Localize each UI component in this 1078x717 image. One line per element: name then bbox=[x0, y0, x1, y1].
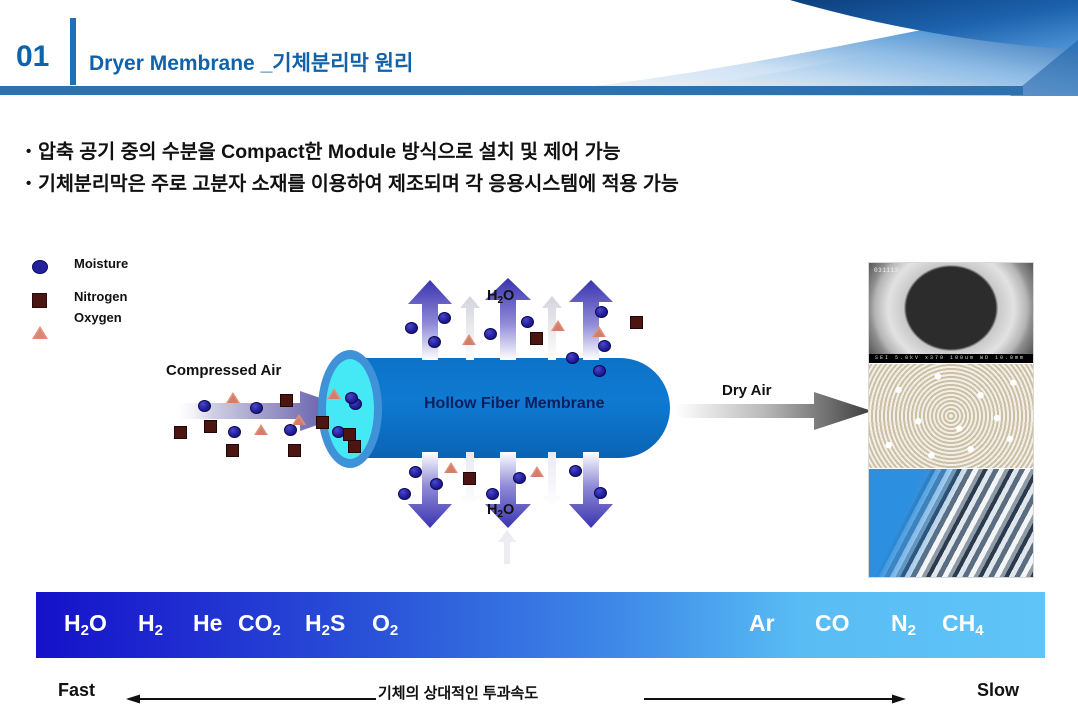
particle-moisture bbox=[228, 426, 241, 438]
particle-nitrogen bbox=[343, 428, 356, 441]
axis-center-label: 기체의 상대적인 투과속도 bbox=[378, 682, 538, 703]
h2o-label-top: H2O bbox=[487, 288, 514, 306]
membrane-diagram: Compressed Air Hollow Fiber Membrane bbox=[0, 240, 880, 570]
particle-moisture bbox=[594, 487, 607, 499]
title-accent-bar bbox=[70, 18, 76, 85]
bullet-text: 기체분리막은 주로 고분자 소재를 이용하여 제조되며 각 응용시스템에 적용 … bbox=[38, 173, 679, 195]
axis-fast-label: Fast bbox=[58, 680, 95, 701]
permeate-stub-arrow-bottom bbox=[496, 530, 518, 564]
sem-cross-section-photo: 031113 SEI 5.0kV x370 100um WD 10.0mm bbox=[869, 263, 1033, 363]
particle-moisture bbox=[345, 392, 358, 404]
particle-nitrogen bbox=[316, 416, 329, 429]
particle-oxygen bbox=[327, 388, 341, 399]
particle-nitrogen bbox=[226, 444, 239, 457]
gas-o2: O2 bbox=[372, 610, 398, 639]
particle-oxygen bbox=[254, 424, 268, 435]
particle-moisture bbox=[486, 488, 499, 500]
gas-n2: N2 bbox=[891, 610, 916, 639]
particle-moisture bbox=[595, 306, 608, 318]
blue-fiber-photo bbox=[869, 469, 1033, 577]
particle-moisture bbox=[521, 316, 534, 328]
particle-oxygen bbox=[592, 326, 606, 337]
bullet-list: •압축 공기 중의 수분을 Compact한 Module 방식으로 설치 및 … bbox=[26, 136, 976, 200]
bullet-text: 압축 공기 중의 수분을 Compact한 Module 방식으로 설치 및 제… bbox=[38, 141, 621, 163]
gas-ch4: CH4 bbox=[942, 610, 984, 639]
particle-oxygen bbox=[226, 392, 240, 403]
particle-moisture bbox=[198, 400, 211, 412]
particle-moisture bbox=[438, 312, 451, 324]
gas-h2s: H2S bbox=[305, 610, 345, 639]
particle-moisture bbox=[569, 465, 582, 477]
particle-moisture bbox=[284, 424, 297, 436]
particle-oxygen bbox=[292, 414, 306, 425]
particle-oxygen bbox=[462, 334, 476, 345]
dry-air-label: Dry Air bbox=[722, 382, 771, 399]
photo-stack: 031113 SEI 5.0kV x370 100um WD 10.0mm bbox=[869, 263, 1033, 577]
bullet-item: •기체분리막은 주로 고분자 소재를 이용하여 제조되며 각 응용시스템에 적용… bbox=[26, 168, 976, 200]
particle-moisture bbox=[484, 328, 497, 340]
bullet-marker-icon: • bbox=[26, 136, 38, 167]
particle-nitrogen bbox=[204, 420, 217, 433]
particle-nitrogen bbox=[280, 394, 293, 407]
particle-nitrogen bbox=[463, 472, 476, 485]
axis-arrow-left-icon bbox=[126, 693, 376, 705]
particle-nitrogen bbox=[288, 444, 301, 457]
fiber-bundle-photo bbox=[869, 364, 1033, 468]
slide-number: 01 bbox=[16, 40, 49, 74]
gas-co2: CO2 bbox=[238, 610, 281, 639]
gas-h2: H2 bbox=[138, 610, 163, 639]
particle-moisture bbox=[428, 336, 441, 348]
gas-co: CO bbox=[815, 610, 850, 637]
particle-nitrogen bbox=[630, 316, 643, 329]
particle-nitrogen bbox=[174, 426, 187, 439]
particle-oxygen bbox=[551, 320, 565, 331]
particle-moisture bbox=[566, 352, 579, 364]
sem-label: 031113 bbox=[874, 267, 899, 274]
compressed-air-label: Compressed Air bbox=[166, 362, 281, 379]
header-rule bbox=[0, 86, 1023, 95]
particle-moisture bbox=[598, 340, 611, 352]
h2o-label-bottom: H2O bbox=[487, 502, 514, 520]
axis-slow-label: Slow bbox=[977, 680, 1019, 701]
particle-moisture bbox=[398, 488, 411, 500]
particle-nitrogen bbox=[530, 332, 543, 345]
gas-ar: Ar bbox=[749, 610, 775, 637]
axis-arrow-right-icon bbox=[644, 693, 906, 705]
particle-nitrogen bbox=[348, 440, 361, 453]
particle-moisture bbox=[430, 478, 443, 490]
slide-header: 01 Dryer Membrane _기체분리막 원리 bbox=[0, 0, 1078, 104]
gas-h2o: H2O bbox=[64, 610, 107, 639]
sem-footer-bar: SEI 5.0kV x370 100um WD 10.0mm bbox=[869, 354, 1033, 363]
particle-moisture bbox=[405, 322, 418, 334]
particle-oxygen bbox=[530, 466, 544, 477]
gas-he: He bbox=[193, 610, 222, 637]
particle-oxygen bbox=[444, 462, 458, 473]
particle-moisture bbox=[250, 402, 263, 414]
particle-moisture bbox=[513, 472, 526, 484]
dry-air-arrow-icon bbox=[676, 390, 872, 432]
membrane-label: Hollow Fiber Membrane bbox=[424, 395, 604, 413]
page-title: Dryer Membrane _기체분리막 원리 bbox=[89, 47, 413, 77]
bullet-marker-icon: • bbox=[26, 168, 38, 199]
gas-permeability-bar: H2O H2 He CO2 H2S O2 Ar CO N2 CH4 bbox=[36, 592, 1045, 658]
particle-moisture bbox=[593, 365, 606, 377]
bullet-item: •압축 공기 중의 수분을 Compact한 Module 방식으로 설치 및 … bbox=[26, 136, 976, 168]
permeation-speed-axis: Fast 기체의 상대적인 투과속도 Slow bbox=[36, 676, 1045, 710]
particle-moisture bbox=[409, 466, 422, 478]
sem-footer-text: SEI 5.0kV x370 100um WD 10.0mm bbox=[875, 355, 1025, 361]
